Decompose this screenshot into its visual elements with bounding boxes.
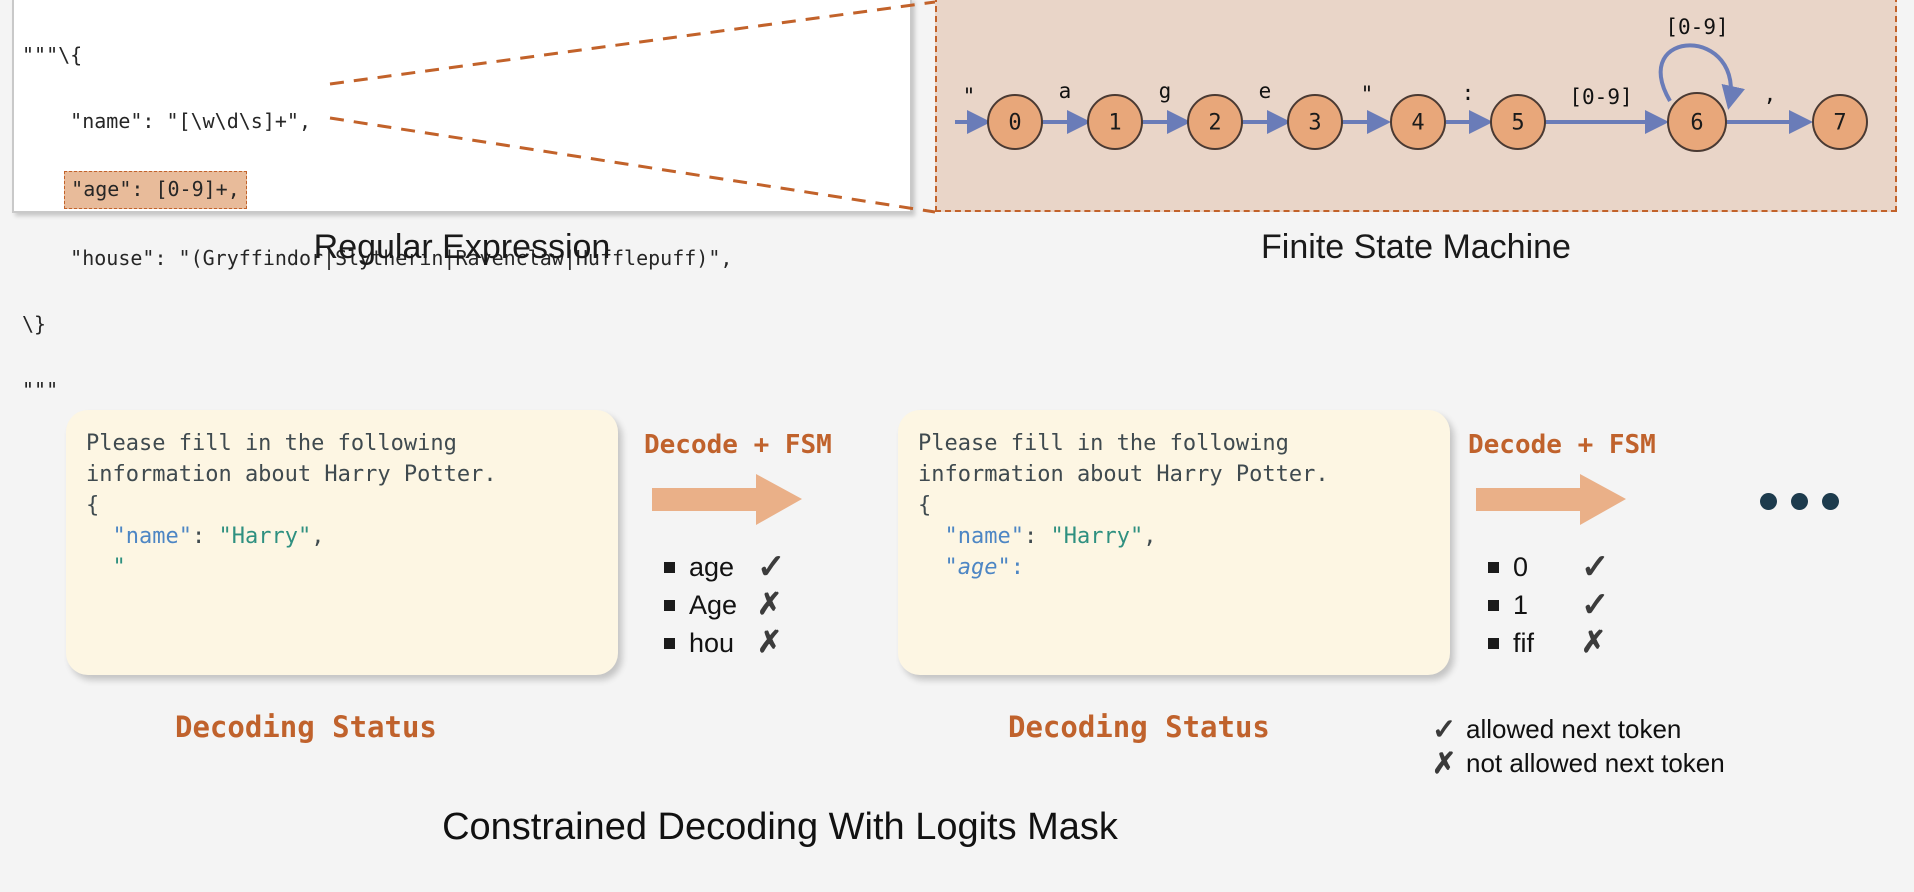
- json-key: "name": [113, 524, 192, 549]
- fsm-node-label-0: 0: [1008, 111, 1021, 136]
- regex-line: \}: [22, 308, 732, 341]
- bullet-icon: [664, 600, 675, 611]
- regex-line-text: "name": "[\w\d\s]+",: [22, 109, 311, 133]
- fsm-node-label-4: 4: [1411, 111, 1424, 136]
- decode-column-step-2: Decode + FSM 0 ✓ 1 ✓ fif ✗: [1468, 430, 1708, 678]
- json-sep: :: [1024, 524, 1051, 549]
- fsm-edge-label-4-5: :: [1462, 81, 1475, 105]
- legend-label: allowed next token: [1466, 714, 1681, 745]
- decoding-status-label-step-2: Decoding Status: [1008, 710, 1270, 744]
- prompt-card-step-2: Please fill in the following information…: [898, 410, 1450, 675]
- fsm-node-label-6: 6: [1690, 111, 1703, 136]
- json-indent: [918, 524, 945, 549]
- regex-line: """: [22, 374, 732, 407]
- token-candidate-row: Age ✗: [664, 586, 884, 624]
- prompt-line: {: [918, 493, 931, 518]
- fsm-edge-label-self-loop-6: [0-9]: [1665, 15, 1728, 39]
- json-key: "name": [945, 524, 1024, 549]
- json-indent: [918, 555, 945, 580]
- prompt-card-step-1: Please fill in the following information…: [66, 410, 618, 675]
- cross-icon: ✗: [1581, 628, 1606, 658]
- decode-fsm-label: Decode + FSM: [644, 430, 884, 460]
- check-icon: ✓: [1581, 588, 1610, 622]
- legend-row-not-allowed: ✗ not allowed next token: [1432, 746, 1725, 780]
- decode-fsm-label: Decode + FSM: [1468, 430, 1708, 460]
- legend: ✓ allowed next token ✗ not allowed next …: [1432, 712, 1725, 780]
- regex-line-text: """: [22, 378, 58, 402]
- caption-regular-expression: Regular Expression: [0, 228, 924, 267]
- prompt-line: information about Harry Potter.: [86, 462, 497, 487]
- prompt-line: Please fill in the following: [918, 431, 1289, 456]
- regex-line-text: """\{: [22, 43, 82, 67]
- token-candidate-row: fif ✗: [1488, 624, 1708, 662]
- check-icon: ✓: [757, 550, 786, 584]
- json-sep: :: [192, 524, 219, 549]
- ellipsis-continuation: [1760, 493, 1839, 510]
- token-candidate-list-step-2: 0 ✓ 1 ✓ fif ✗: [1488, 548, 1708, 662]
- json-value: "Harry": [1050, 524, 1143, 549]
- check-icon: ✓: [1581, 550, 1610, 584]
- dot-icon: [1760, 493, 1777, 510]
- caption-finite-state-machine: Finite State Machine: [935, 228, 1897, 267]
- legend-label: not allowed next token: [1466, 748, 1725, 779]
- decode-arrow-icon: [1476, 474, 1626, 526]
- token-text: fif: [1513, 628, 1575, 659]
- check-icon: ✓: [1432, 712, 1466, 747]
- token-text: Age: [689, 590, 751, 621]
- fsm-edge-label-5-6: [0-9]: [1569, 85, 1632, 109]
- regex-panel: """\{ "name": "[\w\d\s]+", "age": [0-9]+…: [12, 0, 912, 213]
- fsm-node-label-2: 2: [1208, 111, 1221, 136]
- fsm-node-label-3: 3: [1308, 111, 1321, 136]
- dot-icon: [1822, 493, 1839, 510]
- json-key-generated: "age": [945, 555, 1011, 580]
- fsm-node-label-5: 5: [1511, 111, 1524, 136]
- fsm-edge-label-1-2: g: [1159, 79, 1172, 103]
- decode-column-step-1: Decode + FSM age ✓ Age ✗ hou ✗: [644, 430, 884, 678]
- token-text: 1: [1513, 590, 1575, 621]
- fsm-diagram: 0 1 2 3 4 5 6 7 " a g e " : [0-9] [0-9] …: [937, 0, 1899, 214]
- regex-line: """\{: [22, 39, 732, 72]
- cross-icon: ✗: [757, 590, 782, 620]
- decoding-status-label-step-1: Decoding Status: [175, 710, 437, 744]
- regex-line: "name": "[\w\d\s]+",: [22, 105, 732, 138]
- fsm-node-label-1: 1: [1108, 111, 1121, 136]
- token-candidate-row: age ✓: [664, 548, 884, 586]
- dot-icon: [1791, 493, 1808, 510]
- regex-line-highlighted: "age": [0-9]+,: [22, 171, 732, 209]
- fsm-edge-label-6-7: ,: [1764, 82, 1777, 106]
- json-tail: ,: [1143, 524, 1156, 549]
- cross-icon: ✗: [757, 628, 782, 658]
- json-sep: :: [1011, 555, 1024, 580]
- bullet-icon: [664, 562, 675, 573]
- cross-icon: ✗: [1432, 746, 1466, 781]
- fsm-edge-label-start-0: ": [963, 84, 976, 108]
- fsm-edge-label-3-4: ": [1361, 82, 1374, 106]
- json-indent: [86, 555, 113, 580]
- regex-line-text: \}: [22, 312, 46, 336]
- json-tail: ,: [311, 524, 324, 549]
- fsm-edge-label-0-1: a: [1059, 79, 1072, 103]
- token-text: hou: [689, 628, 751, 659]
- bullet-icon: [1488, 600, 1499, 611]
- fsm-panel: 0 1 2 3 4 5 6 7 " a g e " : [0-9] [0-9] …: [935, 0, 1897, 212]
- token-candidate-row: 0 ✓: [1488, 548, 1708, 586]
- token-candidate-row: 1 ✓: [1488, 586, 1708, 624]
- token-text: age: [689, 552, 751, 583]
- fsm-edge-label-2-3: e: [1259, 79, 1272, 103]
- json-partial-quote: ": [113, 555, 126, 580]
- bullet-icon: [664, 638, 675, 649]
- regex-indent: [22, 177, 70, 201]
- legend-row-allowed: ✓ allowed next token: [1432, 712, 1725, 746]
- bullet-icon: [1488, 562, 1499, 573]
- json-indent: [86, 524, 113, 549]
- token-candidate-row: hou ✗: [664, 624, 884, 662]
- regex-age-highlight: "age": [0-9]+,: [64, 171, 247, 209]
- token-candidate-list-step-1: age ✓ Age ✗ hou ✗: [664, 548, 884, 662]
- prompt-line: Please fill in the following: [86, 431, 457, 456]
- decode-arrow-icon: [652, 474, 802, 526]
- figure-bottom-title: Constrained Decoding With Logits Mask: [0, 806, 1560, 849]
- token-text: 0: [1513, 552, 1575, 583]
- bullet-icon: [1488, 638, 1499, 649]
- json-value: "Harry": [218, 524, 311, 549]
- fsm-node-label-7: 7: [1833, 111, 1846, 136]
- prompt-line: information about Harry Potter.: [918, 462, 1329, 487]
- prompt-line: {: [86, 493, 99, 518]
